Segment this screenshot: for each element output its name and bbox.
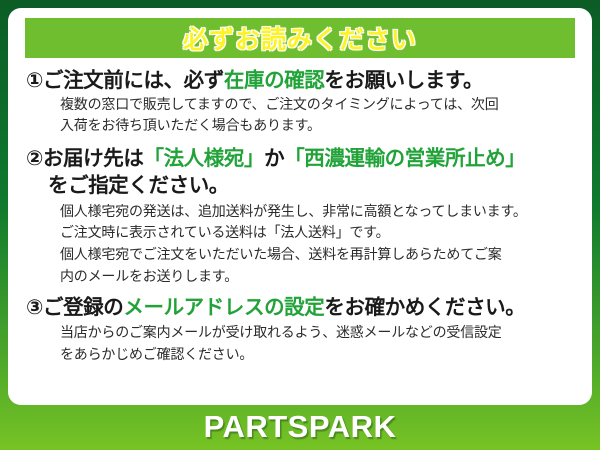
section-2-heading-part-1: お届け先は [43,147,144,170]
notice-panel: 必ずお読みください ①ご注文前には、必ず在庫の確認をお願いします。 複数の窓口で… [8,8,592,405]
section-2-heading-part-3: か [264,147,284,170]
section-2-body-line-3: 個人様宅宛でご注文をいただいた場合、送料を再計算しあらためてご案 [26,245,574,265]
section-1-body-line-2: 入荷をお待ち頂いただく場合もあります。 [26,116,574,136]
section-2-marker: ② [26,147,43,170]
section-3-heading: ③ご登録のメールアドレスの設定をお確かめください。 [26,294,574,321]
section-1-heading-part-3: をお願いします。 [324,69,483,92]
section-1-heading: ①ご注文前には、必ず在庫の確認をお願いします。 [26,67,574,94]
brand-logo: PARTSPARK [204,409,397,445]
section-2-heading-highlight-1: 「法人様宛」 [143,147,264,170]
notice-section-1: ①ご注文前には、必ず在庫の確認をお願いします。 複数の窓口で販売してますので、ご… [26,67,574,136]
section-3-heading-part-3: をお確かめください。 [324,296,525,319]
section-1-marker: ① [26,69,43,92]
section-2-heading-highlight-2: 「西濃運輸の営業所止め」 [284,147,525,170]
notice-content: ①ご注文前には、必ず在庫の確認をお願いします。 複数の窓口で販売してますので、ご… [18,58,582,365]
section-2-heading: ②お届け先は「法人様宛」か「西濃運輸の営業所止め」 [26,145,574,172]
page-title: 必ずお読みください [183,20,417,56]
section-2-heading-line-2: をご指定ください。 [26,172,574,199]
section-3-heading-highlight: メールアドレスの設定 [123,296,324,319]
section-2-body-line-1: 個人様宅宛の発送は、追加送料が発生し、非常に高額となってしまいます。 [26,202,574,222]
section-2-body-line-2: ご注文時に表示されている送料は「法人送料」です。 [26,223,574,243]
header-banner: 必ずお読みください [25,18,575,58]
section-3-marker: ③ [26,296,43,319]
section-1-heading-highlight: 在庫の確認 [224,69,325,92]
section-2-body-line-4: 内のメールをお送りします。 [26,267,574,287]
notice-frame: 必ずお読みください ①ご注文前には、必ず在庫の確認をお願いします。 複数の窓口で… [0,0,600,450]
section-3-heading-part-1: ご登録の [43,296,123,319]
section-1-heading-part-1: ご注文前には、必ず [43,69,224,92]
notice-section-3: ③ご登録のメールアドレスの設定をお確かめください。 当店からのご案内メールが受け… [26,294,574,365]
footer-band: PARTSPARK [0,403,600,450]
notice-section-2: ②お届け先は「法人様宛」か「西濃運輸の営業所止め」 をご指定ください。 個人様宅… [26,145,574,287]
section-3-body-line-2: をあらかじめご確認ください。 [26,345,574,365]
section-1-body-line-1: 複数の窓口で販売してますので、ご注文のタイミングによっては、次回 [26,95,574,115]
section-3-body-line-1: 当店からのご案内メールが受け取れるよう、迷惑メールなどの受信設定 [26,323,574,343]
